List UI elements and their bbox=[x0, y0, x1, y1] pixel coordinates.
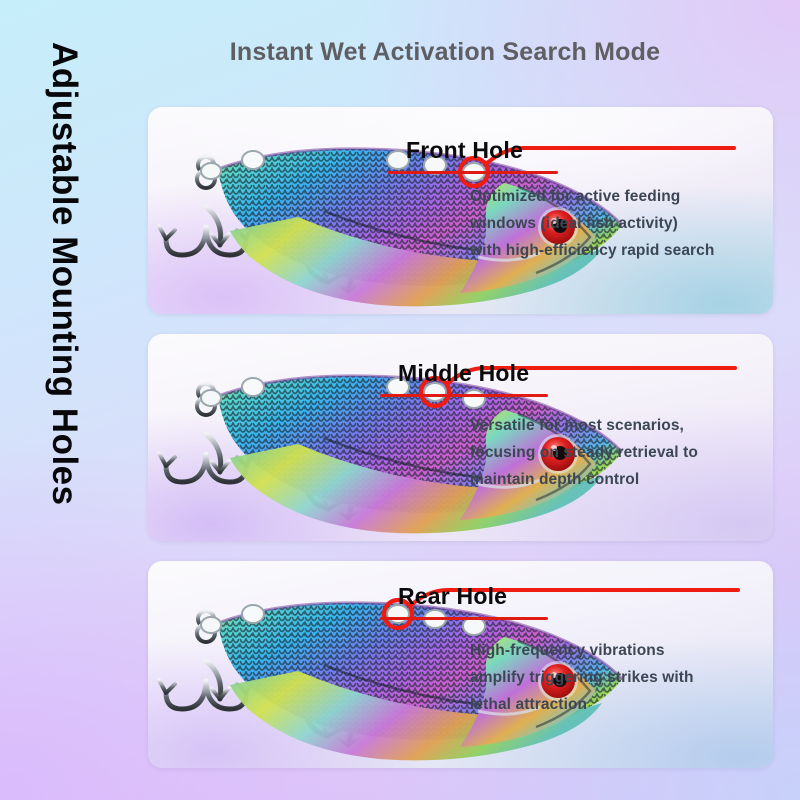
page-title: Instant Wet Activation Search Mode bbox=[0, 38, 800, 67]
infographic-page: Adjustable Mounting Holes Instant Wet Ac… bbox=[0, 0, 800, 800]
card-body-1: Versatile for most scenarios, focusing o… bbox=[470, 412, 765, 493]
card-title-underline-0 bbox=[388, 171, 558, 174]
card-title-underline-1 bbox=[380, 394, 548, 397]
card-body-line: amplify triggering strikes with bbox=[470, 664, 770, 691]
card-title-underline-2 bbox=[380, 617, 548, 620]
card-body-2: High-frequency vibrations amplify trigge… bbox=[470, 637, 770, 718]
card-body-line: windows (ideal fish activity) bbox=[470, 210, 760, 237]
feature-card-rear-hole: Rear Hole High-frequency vibrations ampl… bbox=[148, 561, 773, 768]
card-body-line: lethal attraction bbox=[470, 691, 770, 718]
card-title-2: Rear Hole bbox=[398, 583, 507, 610]
card-title-1: Middle Hole bbox=[398, 360, 529, 387]
card-body-line: focusing on steady retrieval to bbox=[470, 439, 765, 466]
feature-card-middle-hole: Middle Hole Versatile for most scenarios… bbox=[148, 334, 773, 541]
card-body-line: Versatile for most scenarios, bbox=[470, 412, 765, 439]
side-heading: Adjustable Mounting Holes bbox=[38, 42, 90, 602]
card-body-0: Optimized for active feeding windows (id… bbox=[470, 183, 760, 264]
card-body-line: maintain depth control bbox=[470, 466, 765, 493]
card-title-0: Front Hole bbox=[406, 137, 523, 164]
card-body-line: with high-efficiency rapid search bbox=[470, 237, 760, 264]
card-body-line: Optimized for active feeding bbox=[470, 183, 760, 210]
card-body-line: High-frequency vibrations bbox=[470, 637, 770, 664]
feature-card-front-hole: Front Hole Optimized for active feeding … bbox=[148, 107, 773, 314]
